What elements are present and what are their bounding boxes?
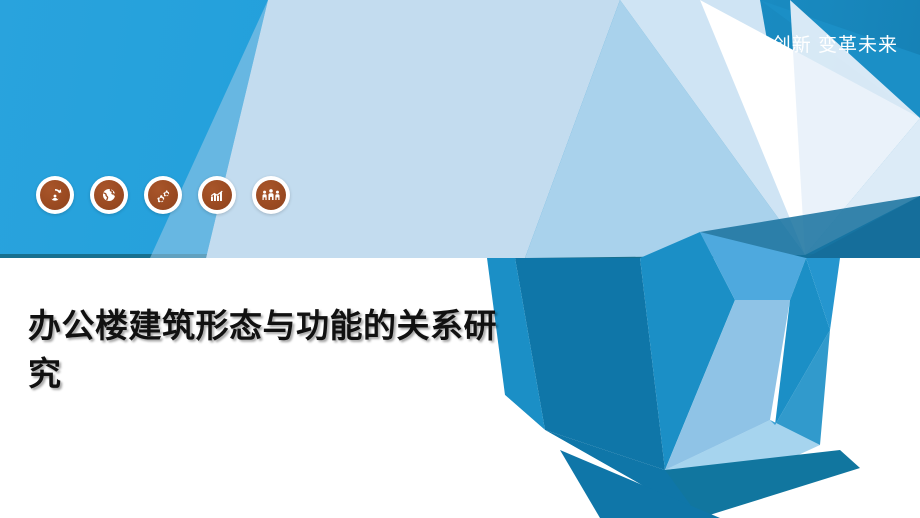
icon-badge-bar-chart[interactable]: [198, 176, 236, 214]
gears-icon: [148, 180, 178, 210]
bar-chart-icon: [202, 180, 232, 210]
low-poly-decoration: [0, 0, 920, 518]
icon-row: [36, 176, 290, 214]
page-title: 办公楼建筑形态与功能的关系研究: [28, 302, 498, 398]
refresh-cycle-icon: [40, 180, 70, 210]
icon-badge-globe[interactable]: [90, 176, 128, 214]
people-group-icon: [256, 180, 286, 210]
globe-icon: [94, 180, 124, 210]
icon-badge-gears[interactable]: [144, 176, 182, 214]
tagline-text: 数智创新 变革未来: [732, 30, 898, 57]
icon-badge-refresh-cycle[interactable]: [36, 176, 74, 214]
icon-badge-people-group[interactable]: [252, 176, 290, 214]
title-slide: 数智创新 变革未来: [0, 0, 920, 518]
